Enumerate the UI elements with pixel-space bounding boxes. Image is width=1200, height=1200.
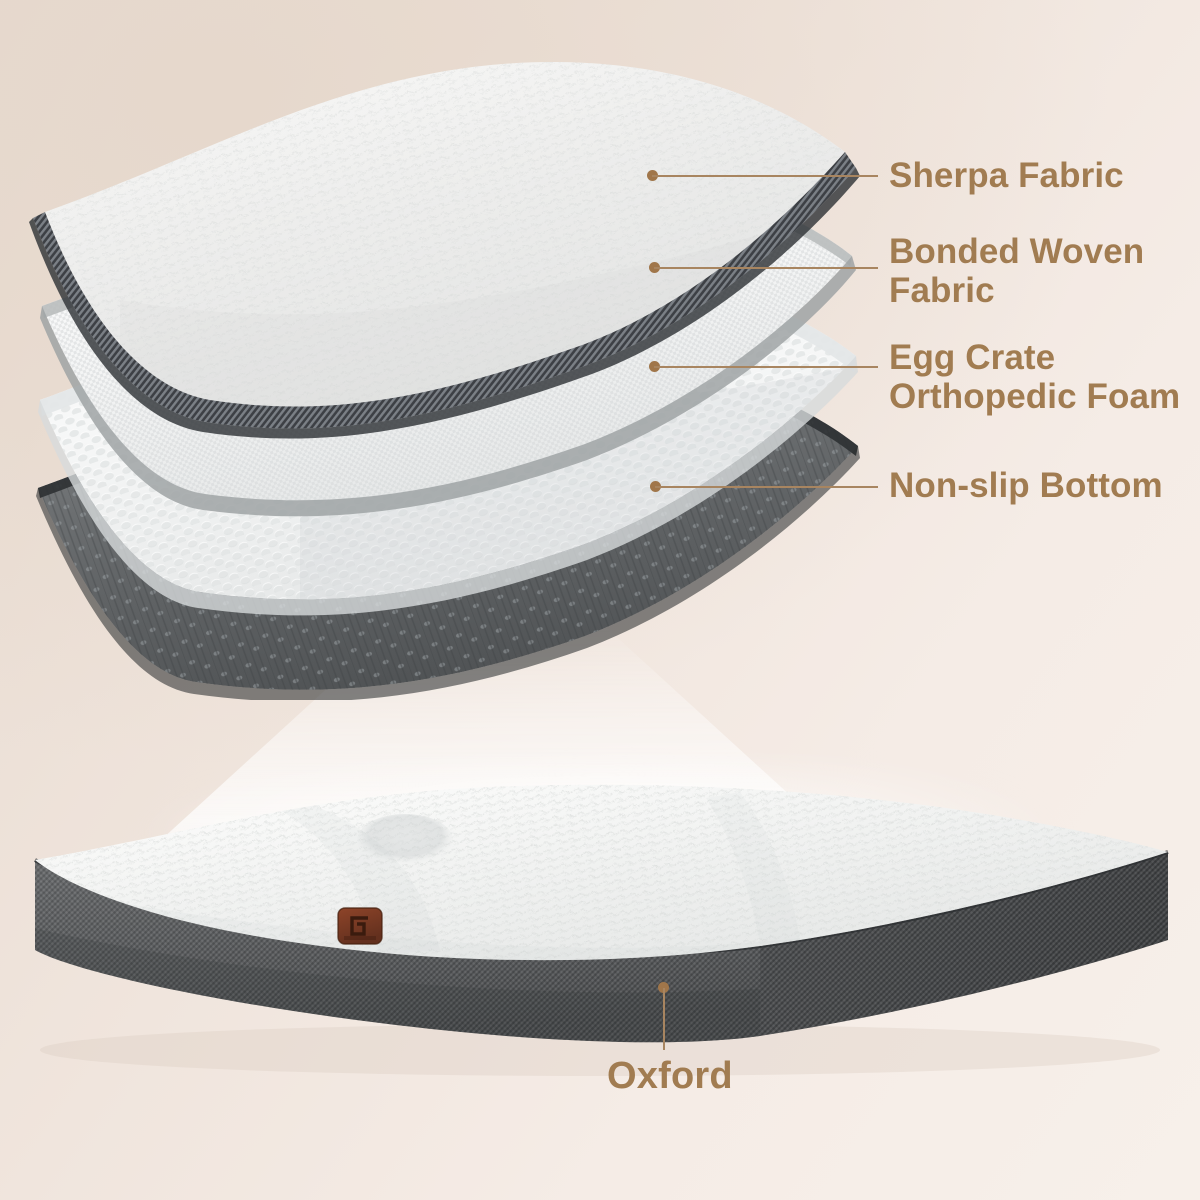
callout-line-oxford [663,988,665,1050]
callout-oxford[interactable]: Oxford [0,0,1200,1200]
infographic-canvas: Sherpa Fabric Bonded Woven Fabric Egg Cr… [0,0,1200,1200]
callout-group: Sherpa Fabric Bonded Woven Fabric Egg Cr… [0,0,1200,1200]
callout-label-oxford: Oxford [607,1055,733,1098]
